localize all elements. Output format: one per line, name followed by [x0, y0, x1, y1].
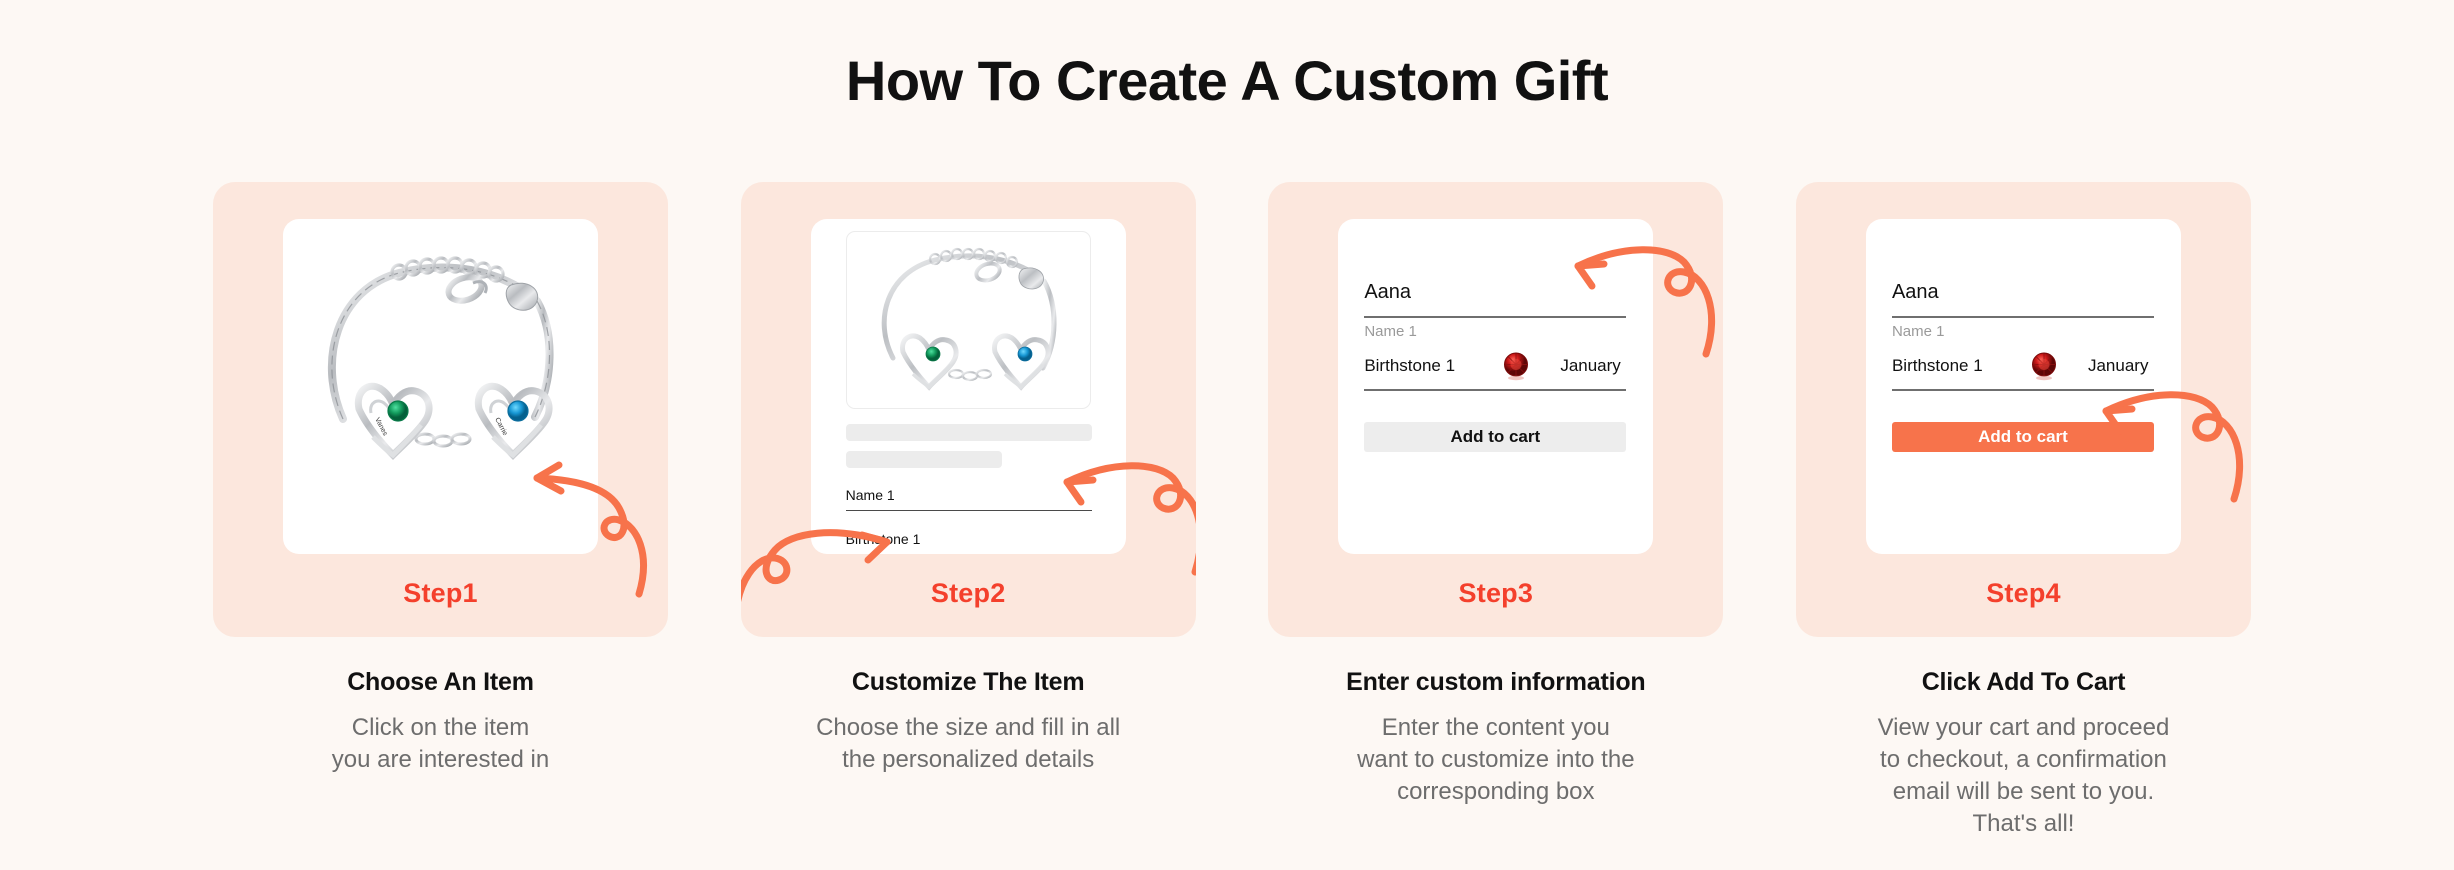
placeholder-bar-price — [846, 451, 1002, 468]
step3-checkout-form-panel[interactable]: Aana Name 1 Birthstone 1 — [1338, 219, 1653, 554]
step-label-4: Step4 — [1796, 578, 2251, 609]
name-input-underline — [1364, 316, 1626, 318]
step-heading-2: Customize The Item — [852, 668, 1085, 697]
name-field-label: Name 1 — [846, 487, 1092, 510]
birthstone-month-value[interactable]: January — [1560, 356, 1620, 376]
birthstone-month-value[interactable]: January — [2088, 356, 2148, 376]
step-card-2: Name 1 Birthstone 1 — [741, 182, 1196, 637]
step-label-1: Step1 — [213, 578, 668, 609]
bracelet-product-image: Vanes Carrie — [297, 241, 585, 491]
step1-product-panel[interactable]: Vanes Carrie — [283, 219, 598, 554]
step-heading-3: Enter custom information — [1346, 668, 1645, 697]
page-title: How To Create A Custom Gift — [0, 48, 2454, 113]
step-card-3: Aana Name 1 Birthstone 1 — [1268, 182, 1723, 637]
add-to-cart-button[interactable]: Add to cart — [1364, 422, 1626, 452]
birthstone-label: Birthstone 1 — [1892, 356, 1983, 376]
step-card-1: Vanes Carrie — [213, 182, 668, 637]
name-input-value[interactable]: Aana — [1364, 281, 1411, 304]
name-field-underline — [846, 510, 1092, 511]
step-label-3: Step3 — [1268, 578, 1723, 609]
birthstone-underline — [1892, 389, 2154, 391]
add-to-cart-button[interactable]: Add to cart — [1892, 422, 2154, 452]
how-to-create-custom-gift-section: How To Create A Custom Gift — [0, 0, 2454, 870]
step-label-2: Step2 — [741, 578, 1196, 609]
clasp — [445, 273, 486, 304]
product-thumbnail-frame[interactable] — [846, 231, 1091, 409]
step-column-4: Aana Name 1 Birthstone 1 — [1796, 182, 2251, 840]
birthstone-field-row[interactable]: Birthstone 1 — [846, 531, 1092, 554]
steps-row: Vanes Carrie — [213, 182, 2251, 840]
name-input-underline — [1892, 316, 2154, 318]
heart-right: Carrie — [478, 386, 549, 455]
step-column-1: Vanes Carrie — [213, 182, 668, 840]
name-field-row[interactable]: Name 1 — [846, 487, 1092, 511]
step-description-2: Choose the size and fill in all the pers… — [816, 712, 1120, 776]
name-input-sublabel: Name 1 — [1892, 323, 1945, 340]
step2-product-form-panel[interactable]: Name 1 Birthstone 1 — [811, 219, 1126, 554]
birthstone-field-label: Birthstone 1 — [846, 531, 1092, 554]
step-column-2: Name 1 Birthstone 1 — [741, 182, 1196, 840]
step-card-4: Aana Name 1 Birthstone 1 — [1796, 182, 2251, 637]
garnet-gem-icon — [1501, 351, 1531, 381]
bracelet-thumbnail-image — [855, 238, 1083, 406]
birthstone-label: Birthstone 1 — [1364, 356, 1455, 376]
heart-left: Vanes — [358, 386, 429, 455]
birthstone-underline — [1364, 389, 1626, 391]
step-column-3: Aana Name 1 Birthstone 1 — [1268, 182, 1723, 840]
placeholder-bar-title — [846, 424, 1092, 441]
step-description-1: Click on the item you are interested in — [332, 712, 549, 776]
step-description-4: View your cart and proceed to checkout, … — [1878, 712, 2170, 840]
step-heading-1: Choose An Item — [347, 668, 534, 697]
name-input-sublabel: Name 1 — [1364, 323, 1417, 340]
name-input-value[interactable]: Aana — [1892, 281, 1939, 304]
step-heading-4: Click Add To Cart — [1922, 668, 2126, 697]
step4-checkout-form-panel[interactable]: Aana Name 1 Birthstone 1 — [1866, 219, 2181, 554]
step-description-3: Enter the content you want to customize … — [1357, 712, 1634, 808]
garnet-gem-icon — [2029, 351, 2059, 381]
